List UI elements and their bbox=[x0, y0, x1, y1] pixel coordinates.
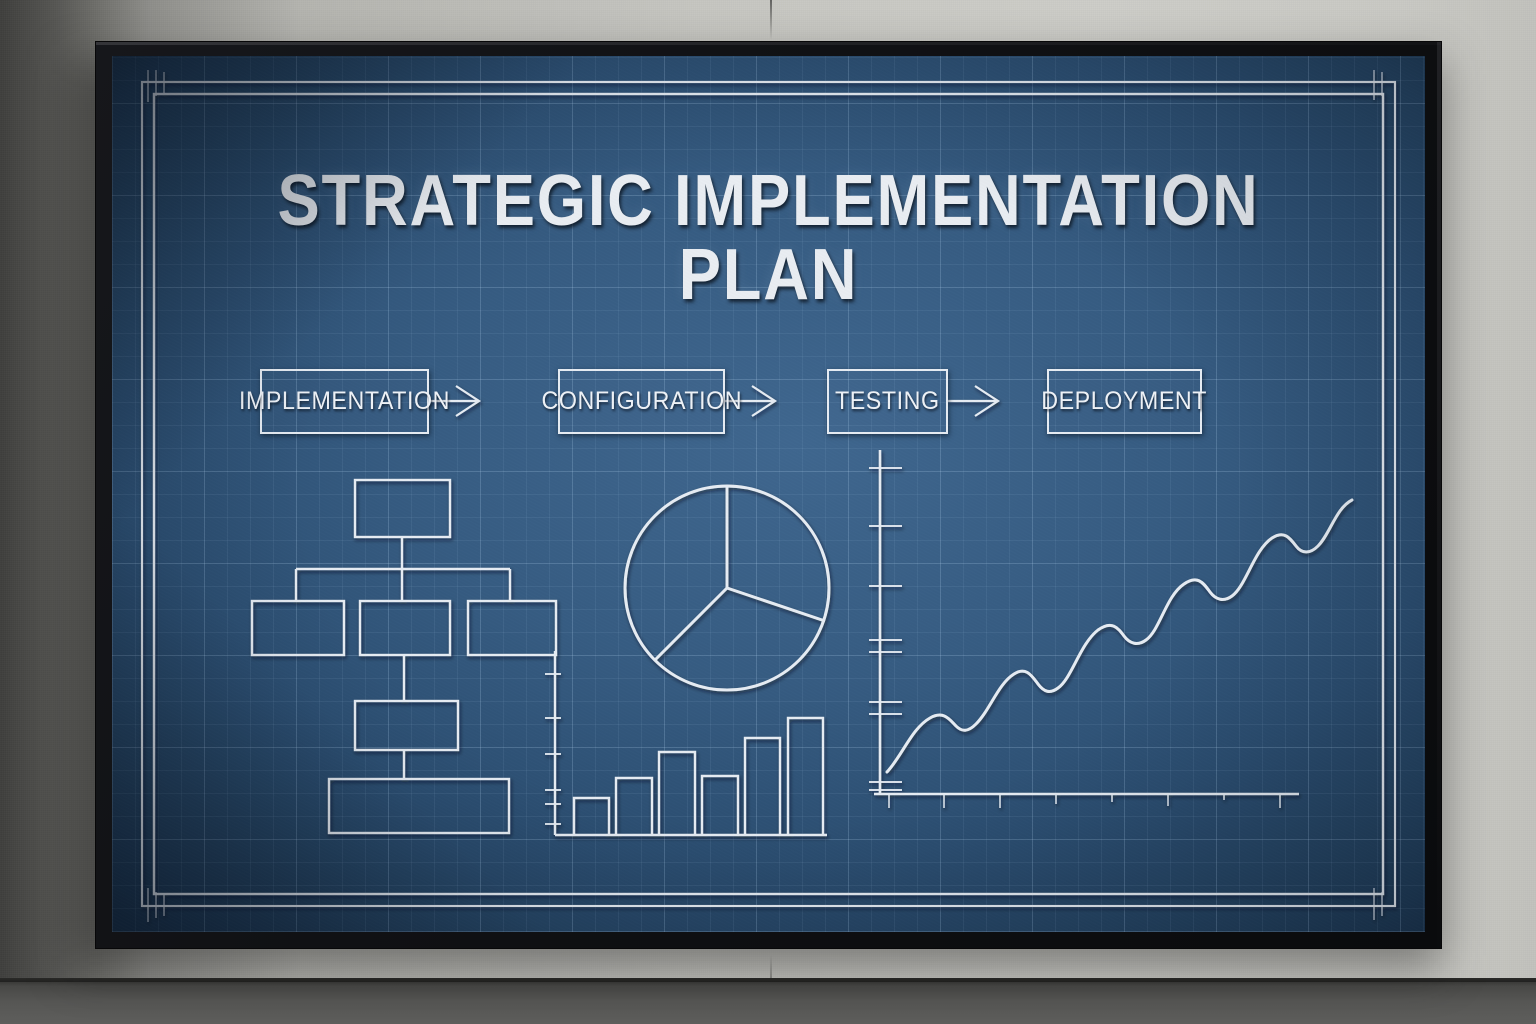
board-frame: STRATEGIC IMPLEMENTATION PLAN IMPLEMENTA… bbox=[96, 42, 1441, 948]
frame-highlight-top bbox=[96, 42, 1441, 45]
blueprint-canvas: STRATEGIC IMPLEMENTATION PLAN IMPLEMENTA… bbox=[112, 56, 1425, 932]
flow-step-label: TESTING bbox=[835, 387, 940, 416]
flow-step-label: DEPLOYMENT bbox=[1042, 387, 1208, 416]
flow-step-label: IMPLEMENTATION bbox=[239, 387, 450, 416]
flow-step-label: CONFIGURATION bbox=[541, 387, 742, 416]
process-flow: IMPLEMENTATION CONFIGURATION TESTING DEP… bbox=[112, 56, 1425, 932]
flow-step-implementation[interactable]: IMPLEMENTATION bbox=[260, 369, 429, 434]
flow-step-testing[interactable]: TESTING bbox=[827, 369, 948, 434]
flow-step-deployment[interactable]: DEPLOYMENT bbox=[1047, 369, 1202, 434]
flow-step-configuration[interactable]: CONFIGURATION bbox=[558, 369, 725, 434]
floor bbox=[0, 982, 1536, 1024]
frame-highlight-right bbox=[1437, 42, 1441, 948]
wall-seam-top bbox=[770, 0, 772, 40]
